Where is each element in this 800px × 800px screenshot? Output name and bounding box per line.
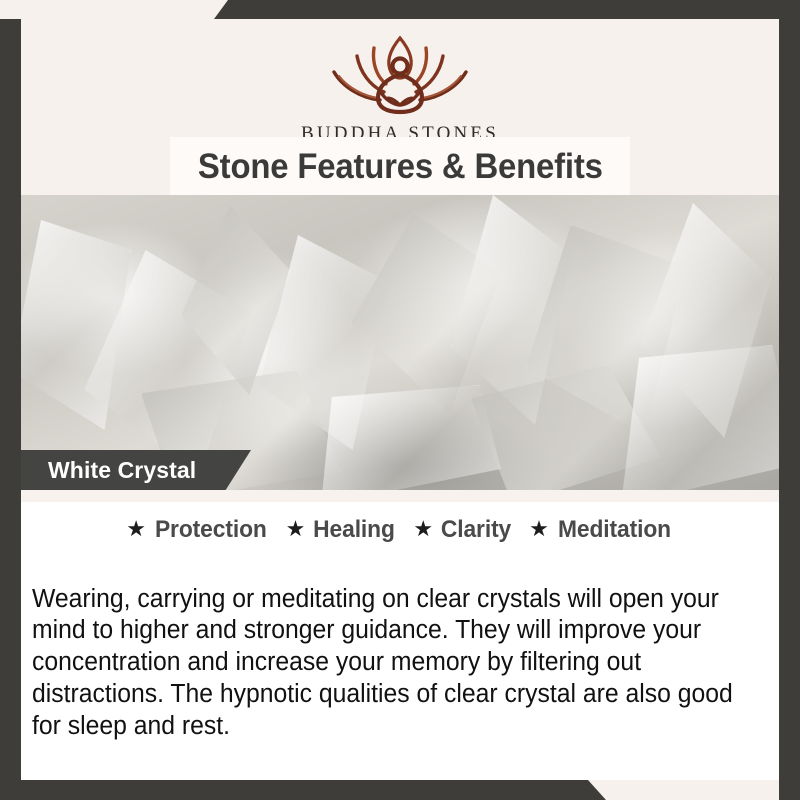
frame-band-top <box>214 0 800 19</box>
content-panel: ★ Protection ★ Healing ★ Clarity ★ Medit… <box>21 490 779 780</box>
frame-band-right <box>779 0 800 800</box>
page-title: Stone Features & Benefits <box>198 149 603 184</box>
stone-name-tag: White Crystal <box>21 450 251 490</box>
star-icon: ★ <box>413 518 433 540</box>
star-icon: ★ <box>286 518 306 540</box>
benefit-label: Clarity <box>441 516 511 544</box>
stone-description: Wearing, carrying or meditating on clear… <box>32 584 735 743</box>
crystal-cluster-image <box>21 195 779 490</box>
benefit-item-protection: ★ Protection <box>126 516 269 544</box>
frame-band-bottom <box>0 780 606 800</box>
content-divider <box>21 490 779 502</box>
star-icon: ★ <box>126 518 146 540</box>
stone-name-label: White Crystal <box>48 457 196 484</box>
benefit-item-healing: ★ Healing <box>286 516 398 544</box>
product-info-card: BUDDHA STONES Stone Features & Benefits … <box>0 0 800 800</box>
benefit-label: Protection <box>155 516 267 544</box>
stone-photo <box>21 195 779 490</box>
benefits-list: ★ Protection ★ Healing ★ Clarity ★ Medit… <box>21 516 779 544</box>
lotus-meditation-icon <box>312 28 488 120</box>
benefit-item-meditation: ★ Meditation <box>529 516 674 544</box>
benefit-label: Meditation <box>558 516 671 544</box>
benefit-label: Healing <box>313 516 395 544</box>
star-icon: ★ <box>529 518 549 540</box>
crystal-shard <box>621 345 779 490</box>
frame-band-left <box>0 19 21 781</box>
benefit-item-clarity: ★ Clarity <box>413 516 513 544</box>
brand-logo: BUDDHA STONES <box>21 28 779 145</box>
section-title-panel: Stone Features & Benefits <box>170 137 630 195</box>
